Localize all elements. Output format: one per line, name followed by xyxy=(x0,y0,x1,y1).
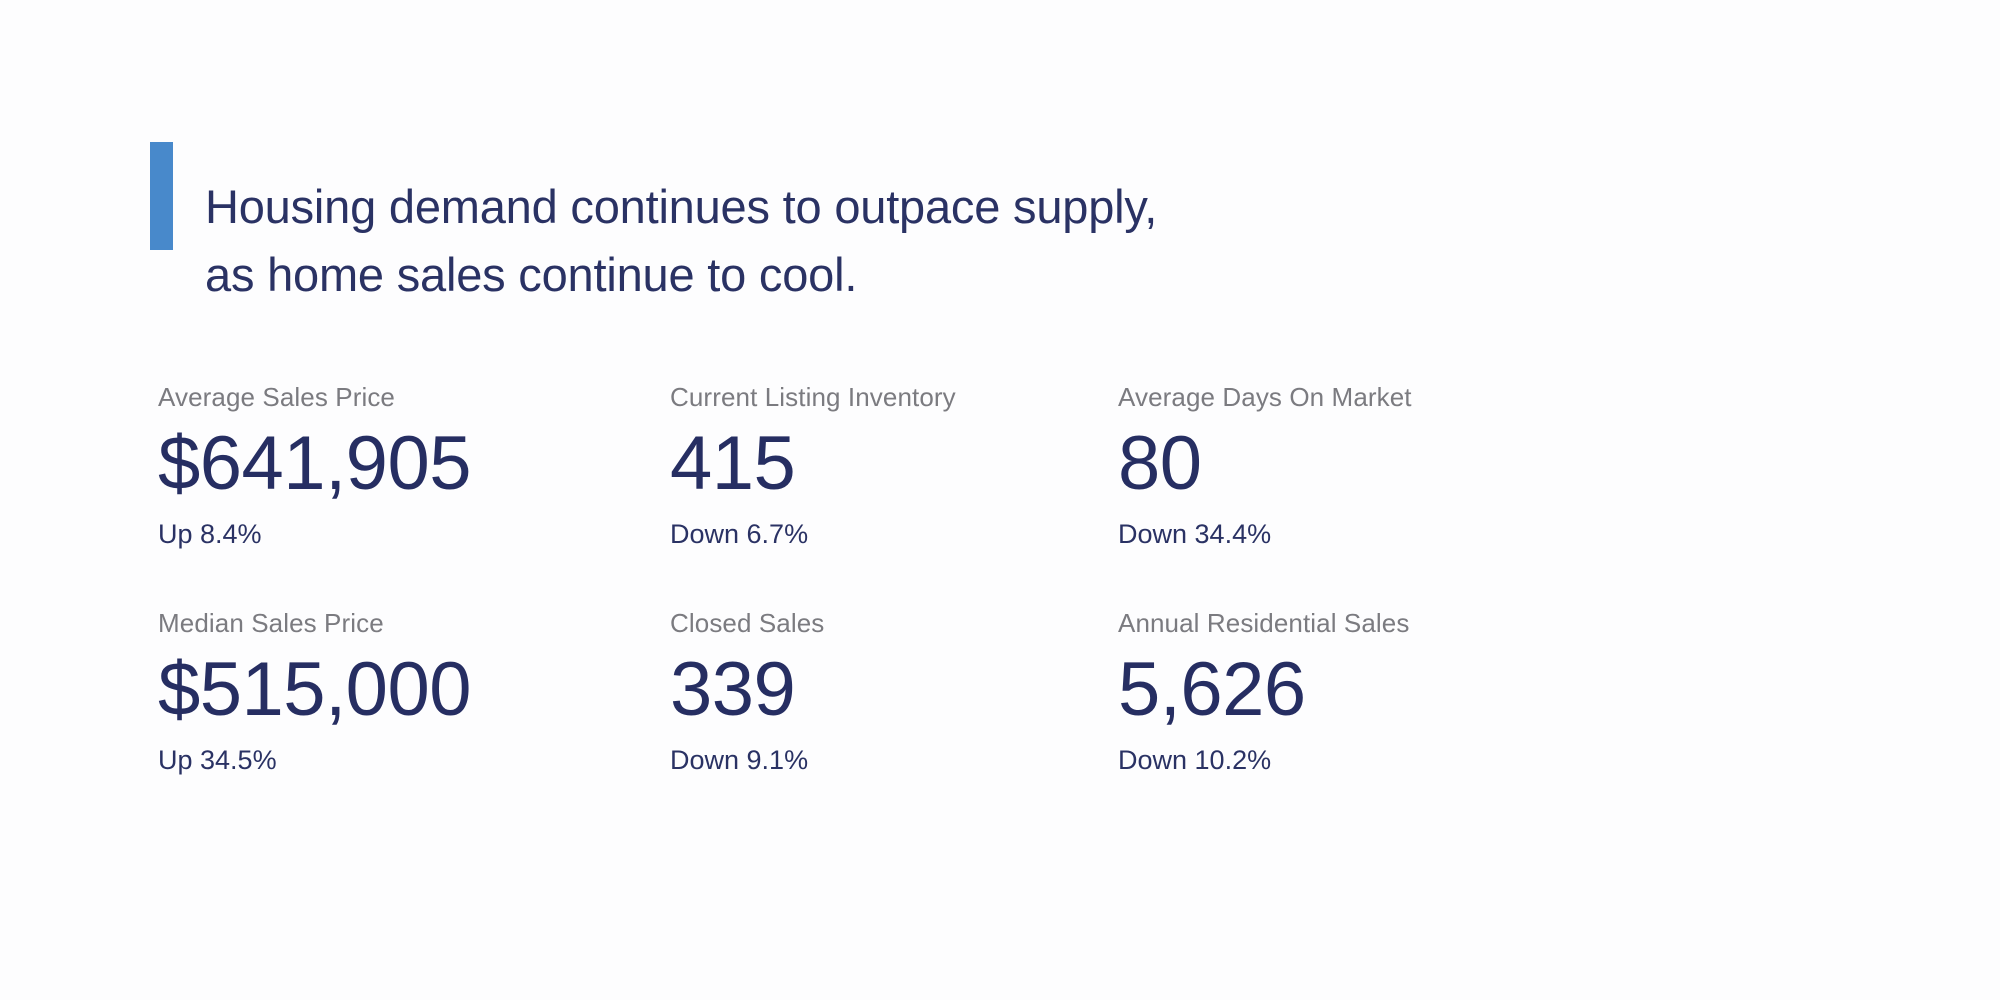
stat-value: 80 xyxy=(1118,418,1578,510)
accent-bar-decoration xyxy=(150,142,173,250)
stat-value: $641,905 xyxy=(158,418,670,510)
stat-label: Average Sales Price xyxy=(158,382,670,412)
stat-change: Up 8.4% xyxy=(158,518,670,550)
stat-change: Up 34.5% xyxy=(158,744,670,776)
stat-average-days-on-market: Average Days On Market 80 Down 34.4% xyxy=(1118,382,1578,550)
stat-value: 5,626 xyxy=(1118,644,1578,736)
stat-closed-sales: Closed Sales 339 Down 9.1% xyxy=(670,608,1118,776)
stat-change: Down 10.2% xyxy=(1118,744,1578,776)
stat-value: $515,000 xyxy=(158,644,670,736)
stat-label: Annual Residential Sales xyxy=(1118,608,1578,638)
page-title-line-1: Housing demand continues to outpace supp… xyxy=(205,173,1157,241)
stat-value: 415 xyxy=(670,418,1118,510)
headline-block: Housing demand continues to outpace supp… xyxy=(150,142,1157,341)
stat-label: Current Listing Inventory xyxy=(670,382,1118,412)
stat-value: 339 xyxy=(670,644,1118,736)
housing-market-stats-page: Housing demand continues to outpace supp… xyxy=(0,0,2000,1000)
stat-label: Average Days On Market xyxy=(1118,382,1578,412)
stats-grid: Average Sales Price $641,905 Up 8.4% Cur… xyxy=(158,382,1578,776)
stat-label: Closed Sales xyxy=(670,608,1118,638)
stat-label: Median Sales Price xyxy=(158,608,670,638)
page-title-line-2: as home sales continue to cool. xyxy=(205,241,1157,309)
stat-change: Down 6.7% xyxy=(670,518,1118,550)
stat-change: Down 9.1% xyxy=(670,744,1118,776)
stat-change: Down 34.4% xyxy=(1118,518,1578,550)
stat-average-sales-price: Average Sales Price $641,905 Up 8.4% xyxy=(158,382,670,550)
stat-current-listing-inventory: Current Listing Inventory 415 Down 6.7% xyxy=(670,382,1118,550)
stat-annual-residential-sales: Annual Residential Sales 5,626 Down 10.2… xyxy=(1118,608,1578,776)
stat-median-sales-price: Median Sales Price $515,000 Up 34.5% xyxy=(158,608,670,776)
page-title: Housing demand continues to outpace supp… xyxy=(205,173,1157,309)
